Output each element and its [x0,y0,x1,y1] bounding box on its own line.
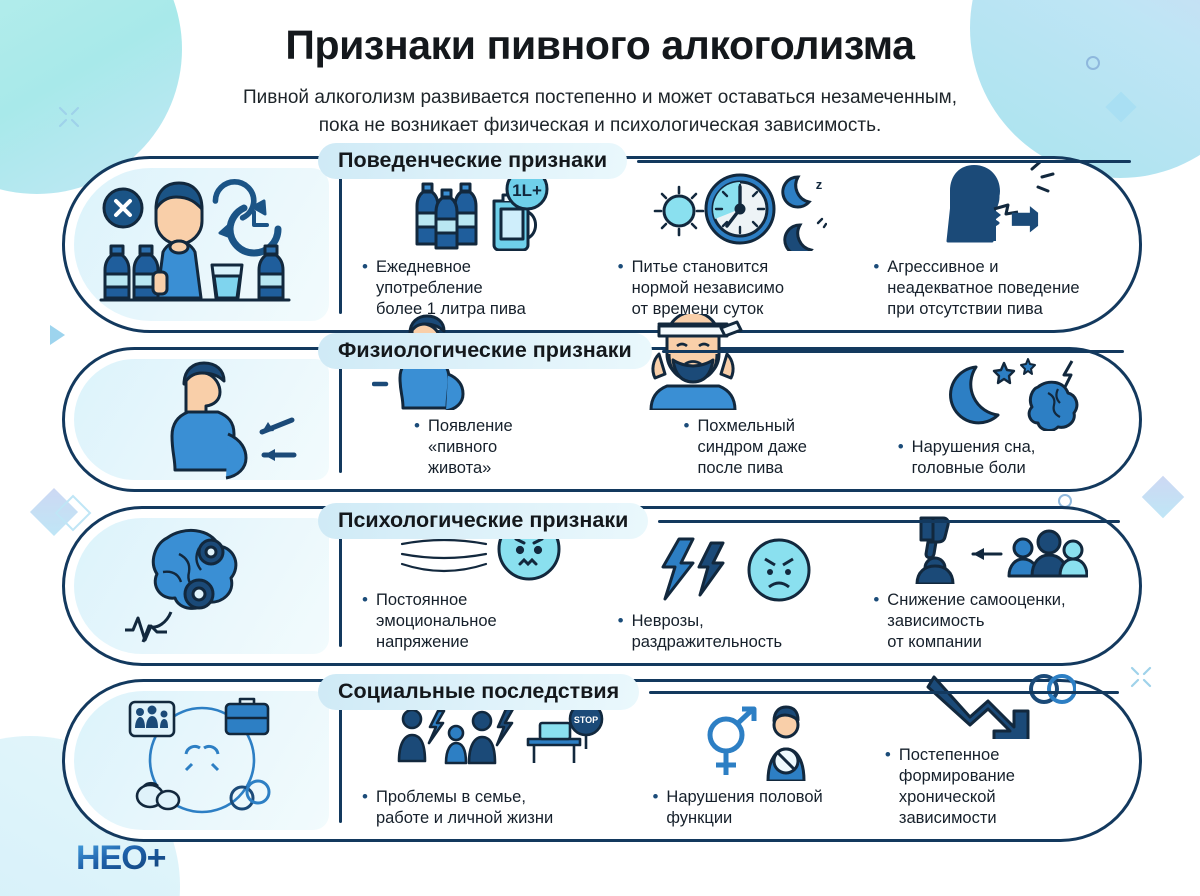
section-header-social: Социальные последствия [318,674,1119,710]
page-title: Признаки пивного алкоголизма [0,22,1200,69]
bullet-dot: • [873,590,879,653]
item-psychological-3: • Снижение самооценки, зависимость от ко… [867,519,1123,653]
bullet-dot: • [362,590,368,653]
item-psychological-2: • Неврозы, раздражительность [612,519,868,653]
item-social-1: STOP • Проблемы в семье, работе и личной… [356,692,646,829]
item-physiological-3: • Нарушения сна, головные боли [892,360,1123,479]
bullet-dot: • [873,257,879,320]
bullet-dot: • [652,787,658,829]
brand-logo: НЕО+ [76,839,166,878]
bullet-behavioral-3: • Агрессивное и неадекватное поведение п… [873,257,1117,320]
bullet-dot: • [618,611,624,653]
section-title: Психологические признаки [318,503,648,539]
section-rule [637,160,1131,163]
bullet-text: Ежедневное употребление более 1 литра пи… [376,257,526,320]
bullet-text: Нарушения сна, головные боли [912,437,1036,479]
bullet-dot: • [362,257,368,320]
illustration-physiological [74,359,329,480]
bullet-text: Питье становится нормой независимо от вр… [632,257,784,320]
section-title: Поведенческие признаки [318,143,627,179]
badge-stop: STOP [574,715,598,725]
card-divider [339,175,342,314]
bullet-text: Нарушения половой функции [666,787,822,829]
item-physiological-2: • Похмельный синдром даже после пива [599,360,891,479]
bullet-social-3: • Постепенное формирование хронической з… [885,745,1117,829]
bullet-psychological-2: • Неврозы, раздражительность [618,611,862,653]
bullet-text: Неврозы, раздражительность [632,611,783,653]
infographic-page: Признаки пивного алкоголизма Пивной алко… [0,0,1200,896]
bullet-social-1: • Проблемы в семье, работе и личной жизн… [362,787,640,829]
item-social-2: • Нарушения половой функции [646,692,878,829]
illustration-behavioral [74,168,329,321]
illustration-social [74,691,329,830]
section-header-physiological: Физиологические признаки [318,333,1124,369]
bullet-text: Агрессивное и неадекватное поведение при… [887,257,1079,320]
bullet-behavioral-2: • Питье становится нормой независимо от … [618,257,862,320]
bullet-dot: • [885,745,891,829]
bullet-text: Похмельный синдром даже после пива [697,416,807,479]
section-rule [649,691,1119,694]
bullet-dot: • [898,437,904,479]
bullet-dot: • [414,416,420,479]
section-header-behavioral: Поведенческие признаки [318,143,1131,179]
bullet-text: Постепенное формирование хронической зав… [899,745,1015,829]
bullet-physiological-1: • Появление «пивного живота» [414,416,593,479]
item-behavioral-2: z • Питье становится нормой независимо [612,169,868,320]
sun-clock-moon-icon: z [618,167,862,257]
bullet-dot: • [618,257,624,320]
card-divider [339,525,342,647]
card-divider [339,698,342,823]
badge-sleep-z: z [816,177,823,192]
bullet-dot: • [683,416,689,479]
section-header-psychological: Психологические признаки [318,503,1120,539]
item-behavioral-3: • Агрессивное и неадекватное поведение п… [867,169,1123,320]
bullet-text: Снижение самооценки, зависимость от комп… [887,590,1065,653]
bullet-psychological-1: • Постоянное эмоциональное напряжение [362,590,606,653]
bullet-text: Постоянное эмоциональное напряжение [376,590,497,653]
item-physiological-1: • Появление «пивного живота» [356,360,599,479]
bullet-social-2: • Нарушения половой функции [652,787,872,829]
moon-stars-brain-lightning-icon [898,357,1117,437]
section-title: Физиологические признаки [318,333,652,369]
subtitle-line-1: Пивной алкоголизм развивается постепенно… [0,84,1200,112]
item-psychological-1: • Постоянное эмоциональное напряжение [356,519,612,653]
bullet-text: Проблемы в семье, работе и личной жизни [376,787,553,829]
section-title: Социальные последствия [318,674,639,710]
three-bottles-and-one-liter-mug-icon: 1L+ [362,167,606,257]
bullet-dot: • [362,787,368,829]
diamond-decoration [1142,476,1184,518]
bullet-behavioral-1: • Ежедневное употребление более 1 литра … [362,257,606,320]
illustration-psychological [74,518,329,654]
bullet-text: Появление «пивного живота» [428,416,513,479]
section-rule [658,520,1120,523]
item-social-3: • Постепенное формирование хронической з… [879,692,1123,829]
page-subtitle: Пивной алкоголизм развивается постепенно… [0,84,1200,139]
section-rule [662,350,1124,353]
badge-one-liter: 1L+ [512,181,542,200]
bullet-physiological-2: • Похмельный синдром даже после пива [683,416,885,479]
triangle-decoration [50,325,65,345]
subtitle-line-2: пока не возникает физическая и психологи… [0,112,1200,140]
card-divider [339,366,342,473]
bullet-physiological-3: • Нарушения сна, головные боли [898,437,1117,479]
bullet-psychological-3: • Снижение самооценки, зависимость от ко… [873,590,1117,653]
card-behavioral: 1L+ • Ежедневное употребление более 1 ли… [62,156,1142,333]
item-behavioral-1: 1L+ • Ежедневное употребление более 1 ли… [356,169,612,320]
